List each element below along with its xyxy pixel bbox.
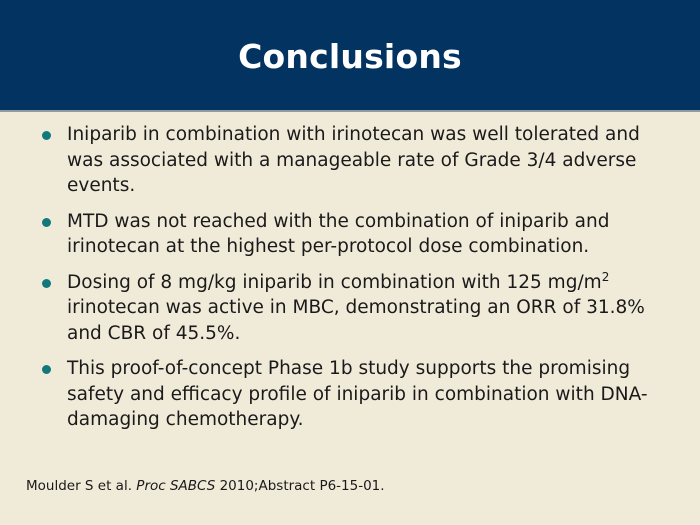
list-item-superscript: 2 [602, 269, 610, 283]
slide: Conclusions Iniparib in combination with… [0, 0, 700, 525]
list-item-text: MTD was not reached with the combination… [67, 211, 610, 258]
bullet-dot-icon [42, 218, 51, 227]
list-item-text: Dosing of 8 mg/kg iniparib in combinatio… [67, 272, 645, 344]
header-divider [0, 110, 700, 112]
bullet-dot-icon [42, 279, 51, 288]
list-item-text-tail: irinotecan was active in MBC, demonstrat… [67, 297, 645, 344]
list-item-text-main: MTD was not reached with the combination… [67, 211, 610, 258]
citation-source: Proc SABCS [136, 478, 215, 494]
list-item: Dosing of 8 mg/kg iniparib in combinatio… [34, 270, 674, 347]
page-title: Conclusions [238, 38, 462, 73]
bullet-dot-icon [42, 365, 51, 374]
list-item: Iniparib in combination with irinotecan … [34, 122, 674, 199]
citation-footer: Moulder S et al. Proc SABCS 2010;Abstrac… [26, 478, 385, 494]
slide-header: Conclusions [0, 0, 700, 110]
list-item-text-main: Iniparib in combination with irinotecan … [67, 124, 640, 196]
list-item: MTD was not reached with the combination… [34, 209, 674, 260]
list-item-text: Iniparib in combination with irinotecan … [67, 124, 640, 196]
list-item: This proof-of-concept Phase 1b study sup… [34, 356, 674, 433]
conclusions-bullet-list: Iniparib in combination with irinotecan … [34, 122, 674, 433]
citation-authors: Moulder S et al. [26, 478, 136, 494]
bullet-dot-icon [42, 131, 51, 140]
list-item-text: This proof-of-concept Phase 1b study sup… [67, 358, 648, 430]
list-item-text-main: Dosing of 8 mg/kg iniparib in combinatio… [67, 272, 602, 293]
list-item-text-main: This proof-of-concept Phase 1b study sup… [67, 358, 648, 430]
citation-reference: 2010;Abstract P6-15-01. [215, 478, 384, 494]
slide-content: Iniparib in combination with irinotecan … [34, 122, 674, 433]
